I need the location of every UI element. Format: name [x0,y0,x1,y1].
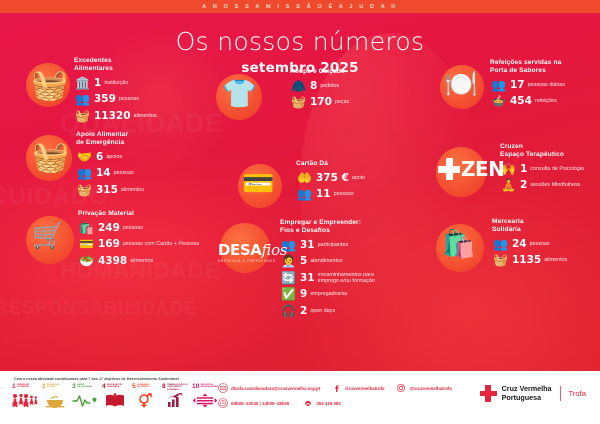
hours-info: 09h00–12h30 | 14h00–18h00 [218,398,289,408]
stat-value: 169 [98,238,120,250]
cruzen-logo: ZEN [438,157,504,181]
block-mercearia-solidaria: 🛍️ MerceariaSolidária 👥 24 pessoas 🧺 113… [436,218,600,268]
stat-label: apoio [352,175,365,181]
sdg-title: SAÚDEDE QUALIDADE [77,384,92,389]
stat-value: 5 [300,255,307,267]
stat-value: 9 [300,288,307,300]
people-icon: 👥 [74,92,91,107]
stat-label: pessoas [123,225,143,231]
sdg-header: 3 SAÚDEDE QUALIDADE [72,384,98,391]
stat-label: pessoas [530,241,550,247]
stat-label: empregados/as [310,291,347,297]
stat-row: 🔄 31 encaminhamentos paraemprego e/ou fo… [280,270,407,285]
sdg-item-10: 10 REDUZIR ASDESIGUALDADES [192,384,218,409]
stat-row: 🧺 170 peças [290,95,372,110]
fruit-basket-icon: 🧺 [32,143,69,173]
stat-row: 👥 24 pessoas [492,236,600,251]
instagram-text: @cruzvermelhatrofa [409,386,451,391]
stat-row: 🧘 2 sessões Mindfulness [500,178,600,193]
stat-row: 🍲 454 refeições [490,94,600,109]
sdg-icons-row: 1 ERRADICARA POBREZA 2 ERRADICAR [12,384,218,409]
stat-label: pessoas com Cartão + Pessoas [123,241,199,247]
stat-value: 11320 [94,110,131,122]
stat-row: ✅ 9 empregados/as [280,287,407,302]
facebook-contact[interactable]: /cruzvermelhatrofa [332,383,384,393]
check-circle-icon: ✅ [280,287,297,302]
stat-label: atendimentos [310,258,342,264]
stat-row: 🧺 11320 alimentos [74,108,201,123]
stat-value: 24 [512,238,527,250]
block-privacao-material: 🛒 Privação Material 🛍️ 249 pessoas 💳 169… [26,210,211,268]
stat-value: 6 [96,151,103,163]
stat-label: peças [335,99,349,105]
sdg-item-4: 4 EDUCAÇÃO DEQUALIDADE [102,384,128,409]
stat-label: refeições [535,98,557,104]
stat-label: pessoas [114,170,134,176]
sdg-item-8: 8 TRABALHO DIGNO ECRESCIMENTOECONÓMICO [162,384,188,409]
desafios-logo-sub: EMPREGAR & EMPREENDER [218,259,287,263]
sdg-header: 2 ERRADICARA FOME [42,384,68,391]
sdg-header: 4 EDUCAÇÃO DEQUALIDADE [102,384,128,391]
title-area: Os nossos números setembro 2025 [0,27,600,76]
stat-row: 🧺 1135 alimentos [492,253,600,268]
stat-row: 🧥 8 pedidos [290,78,372,93]
instagram-contact[interactable]: @cruzvermelhatrofa [396,383,451,393]
people-icon: 👥 [296,187,313,202]
stat-row: 🧑‍💼 5 atendimentos [280,254,407,269]
footer: Com a nossa atividade contribuímos para … [0,371,600,424]
contact-line-1: dtrofa.coordenadora@cruzvermelha.org.pt … [218,383,452,393]
stat-value: 31 [300,272,315,284]
stat-value: 375 € [316,172,349,184]
clothes-shoes-icon: 👕 [222,80,257,108]
people-icon: 👥 [492,236,509,251]
stat-row: 🏛️ 1 instituição [74,75,201,90]
sdg-number: 10 [192,384,199,391]
facebook-icon [332,383,342,393]
stat-value: 17 [510,79,525,91]
stat-row: 🤲 375 € apoio [296,170,398,185]
soup-bowl-icon: 🍲 [490,94,507,109]
stat-row: 🧺 315 alimentos [76,182,201,197]
sdg-number: 1 [12,384,16,391]
food-box-icon: 🧺 [74,108,91,123]
block-cruzen-espaco-terapeutico: ZEN CruzenEspaço Terapêutico 🙌 1 consult… [432,143,600,193]
page-subtitle: setembro 2025 [0,60,600,76]
stat-label: pessoas diárias [528,82,565,88]
stat-value: 31 [300,239,315,251]
sdg-gender-icon [132,392,158,409]
sdg-header: 1 ERRADICARA POBREZA [12,384,38,391]
vegetables-icon: 🥗 [78,253,95,268]
top-tagline-bar: A N O S S A M I S S Ã O É A J U D A R [0,0,600,13]
stat-label: pessoas [334,191,354,197]
stat-label: alimentos [130,258,153,264]
stat-value: 1 [94,77,101,89]
email-contact[interactable]: dtrofa.coordenadora@cruzvermelha.org.pt [218,383,320,393]
open-day-icon: 🎧 [280,303,297,318]
groceries-card-icon: 🛒 [32,222,64,248]
instagram-icon [396,383,406,393]
sdg-item-1: 1 ERRADICARA POBREZA [12,384,38,409]
sdg-number: 5 [132,384,136,391]
sdg-equality-arrows-icon [192,392,218,409]
infographic-page: A N O S S A M I S S Ã O É A J U D A R QU… [0,0,600,424]
email-text: dtrofa.coordenadora@cruzvermelha.org.pt [231,386,320,391]
red-cross-icon [438,158,460,180]
stat-row: 💳 169 pessoas com Cartão + Pessoas [78,237,211,252]
sdg-title: ERRADICARA POBREZA [17,384,29,389]
stat-value: 359 [94,93,116,105]
stat-label: instituição [104,80,128,86]
block-title: Privação Material [78,210,211,218]
stat-row: 👥 11 pessoas [296,187,398,202]
brand-city: Trofa [569,389,586,398]
sdg-header: 5 IGUALDADEDE GÉNERO [132,384,158,391]
stat-value: 8 [310,80,317,92]
grocery-bag-icon: 🛍️ [78,220,95,235]
stat-row: 👥 359 pessoas [74,92,201,107]
people-icon: 👥 [490,77,507,92]
stat-value: 11 [316,188,331,200]
block-title: Cartão Dá [296,160,398,168]
sdg-number: 2 [42,384,46,391]
sdg-growth-icon [162,392,188,409]
stat-value: 170 [310,96,332,108]
stat-value: 249 [98,222,120,234]
helping-hands-icon: 🤝 [76,149,93,164]
tagline-text: A N O S S A M I S S Ã O É A J U D A R [202,4,398,10]
stat-row: 🎧 2 open days [280,303,407,318]
sdg-number: 4 [102,384,106,391]
sdg-title: REDUZIR ASDESIGUALDADES [201,384,218,389]
block-title: CruzenEspaço Terapêutico [500,143,600,159]
food-basket-icon: 🧺 [76,182,93,197]
contact-line-2: 09h00–12h30 | 14h00–18h00 252 419 083 [218,398,452,408]
block-title: MerceariaSolidária [492,218,600,234]
stat-value: 1135 [512,254,541,266]
block-apoio-alimentar-emergencia: 🧺 Apoio Alimentarde Emergência 🤝 6 apoio… [26,131,201,197]
institution-icon: 🏛️ [74,75,91,90]
sdg-item-3: 3 SAÚDEDE QUALIDADE [72,384,98,409]
stat-label: alimentos [544,257,567,263]
block-title: Apoio Alimentarde Emergência [76,131,201,147]
credit-card-icon: 💳 [78,237,95,252]
sdg-book-icon [102,392,128,409]
stat-label: encaminhamentos paraemprego e/ou formaçã… [318,272,375,284]
stat-row: 👥 14 pessoas [76,166,201,181]
stat-label: alimentos [134,113,157,119]
stat-label: participantes [318,242,349,248]
stat-label: apoios [106,154,122,160]
cruzen-logo-text: ZEN [461,157,504,181]
sdg-title: ERRADICARA FOME [47,384,59,389]
grocery-bag-heart-icon: 🛍️ [442,231,476,258]
stat-row: 👥 31 participantes [280,237,407,252]
block-cartao-da: 💳 Cartão Dá 🤲 375 € apoio 👥 11 pessoas [238,160,398,202]
phone-text: 252 419 083 [316,401,340,406]
sdg-title: TRABALHO DIGNO ECRESCIMENTOECONÓMICO [167,384,187,391]
phone-contact[interactable]: 252 419 083 [303,398,340,408]
stat-value: 315 [96,184,118,196]
desafios-logo: DESAfios EMPREGAR & EMPREENDER [218,241,287,263]
stat-row: 🤝 6 apoios [76,149,201,164]
sdg-header: 8 TRABALHO DIGNO ECRESCIMENTOECONÓMICO [162,384,188,391]
clothes-rack-icon: 🧺 [290,95,307,110]
stat-row: 🛍️ 249 pessoas [78,220,211,235]
stat-value: 2 [520,179,527,191]
stat-label: alimentos [121,187,144,193]
brand-name: Cruz Vermelha Portuguesa [502,385,552,402]
sdg-heartbeat-icon [72,392,98,409]
phone-icon [303,398,313,408]
watermark-text-4: RESPONSABILIDADE [0,298,197,319]
contact-block: dtrofa.coordenadora@cruzvermelha.org.pt … [218,383,452,413]
sdg-number: 8 [162,384,166,391]
red-cross-icon [480,385,497,402]
referral-icon: 🔄 [280,270,297,285]
stat-value: 2 [300,305,307,317]
stat-label: pedidos [320,83,339,89]
stat-row: 🥗 4398 alimentos [78,253,211,268]
sdg-item-2: 2 ERRADICARA FOME [42,384,68,409]
stat-value: 14 [96,167,111,179]
sdg-number: 3 [72,384,76,391]
main-canvas: QUALIDADE CUIDADO HUMANIDADE RESPONSABIL… [0,13,600,371]
people-icon: 👥 [76,166,93,181]
stat-value: 454 [510,95,532,107]
sdg-header: 10 REDUZIR ASDESIGUALDADES [192,384,218,391]
desafios-logo-script: fios [262,241,287,259]
block-title: Empregar e Empreender:Fios e Desafios [280,219,407,235]
brand-divider [560,386,561,401]
desafios-logo-main: DESA [218,241,262,259]
sdg-title: EDUCAÇÃO DEQUALIDADE [107,384,122,389]
sdg-note: Com a nossa atividade contribuímos para … [14,377,179,381]
stat-value: 1 [520,163,527,175]
sdg-people-icon [12,392,38,409]
stat-value: 4398 [98,255,127,267]
food-basket-icon: 🧺 [492,253,509,268]
hanger-icon: 🧥 [290,78,307,93]
stat-row: 👥 17 pessoas diárias [490,77,600,92]
stat-label: consulta de Psicologia [530,166,584,172]
sdg-title: IGUALDADEDE GÉNERO [137,384,149,389]
stat-label: sessões Mindfulness [530,182,580,188]
stat-row: 🙌 1 consulta de Psicologia [500,161,600,176]
hand-card-icon: 💳 [242,170,274,196]
block-empregar-e-empreender: DESAfios EMPREGAR & EMPREENDER Empregar … [212,219,407,318]
page-title: Os nossos números [0,27,600,56]
facebook-text: /cruzvermelhatrofa [345,386,384,391]
stat-label: open days [310,308,335,314]
brand-logo: Cruz Vermelha Portuguesa Trofa [480,385,586,402]
donation-hand-icon: 🤲 [296,170,313,185]
stat-label: pessoas [119,96,139,102]
envelope-icon [218,383,228,393]
hours-text: 09h00–12h30 | 14h00–18h00 [231,401,289,406]
sdg-item-5: 5 IGUALDADEDE GÉNERO [132,384,158,409]
clock-icon [218,398,228,408]
brand-line2: Portuguesa [502,394,552,402]
sdg-bowl-icon [42,392,68,409]
